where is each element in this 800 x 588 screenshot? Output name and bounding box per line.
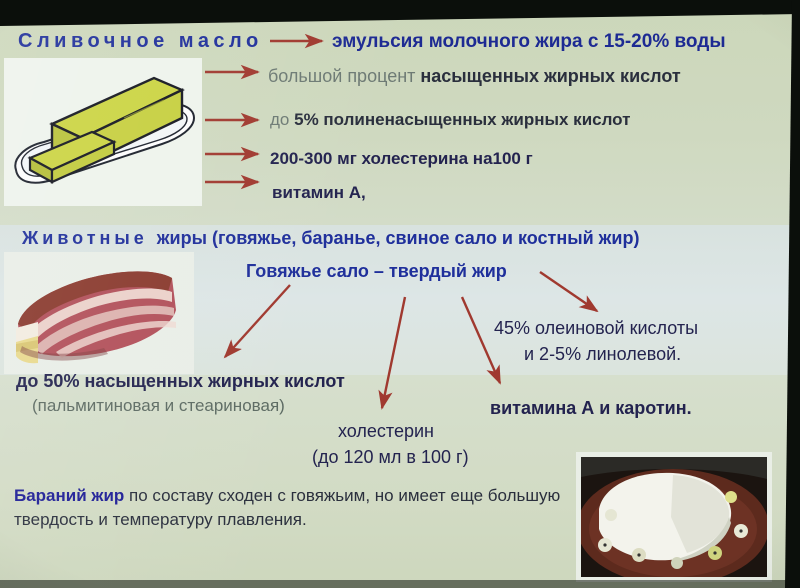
butter-item-poly-bold: 5% полиненасыщенных жирных кислот [294,110,630,129]
projection-edge-bottom [0,580,800,588]
butter-item-emulsion: эмульсия молочного жира с 15-20% воды [332,31,726,53]
branch-saturated-50-sub: (пальмитиновая и стеариновая) [32,396,285,416]
branch-vitamin-a-carotene: витамина А и каротин. [490,398,692,419]
arrow-beef-to-saturated50 [225,285,290,357]
branch-cholesterol-sub: (до 120 мл в 100 г) [312,447,469,468]
arrow-beef-to-cholesterol [382,297,405,408]
butter-item-cholesterol: 200-300 мг холестерина на100 г [270,149,533,169]
butter-item-saturated-plain: большой процент [268,66,420,86]
butter-item-saturated: большой процент насыщенных жирных кислот [268,66,681,87]
butter-item-poly-plain: до [270,110,294,129]
arrow-beef-to-vitamin-a [462,297,500,383]
branch-cholesterol-main: холестерин [338,421,434,442]
animal-fats-title-rest: жиры (говяжье, баранье, свиное сало и ко… [157,228,640,248]
butter-item-vitamin-a: витамин А, [272,183,366,203]
butter-item-polyunsaturated: до 5% полиненасыщенных жирных кислот [270,110,630,130]
mutton-fat-paragraph: Бараний жир по составу сходен с говяжьим… [14,484,574,532]
mutton-fat-lead: Бараний жир [14,486,124,505]
arrow-beef-to-oleic [540,272,597,311]
butter-item-saturated-bold: насыщенных жирных кислот [420,66,680,86]
beef-fat-subtitle: Говяжье сало – твердый жир [246,261,507,282]
branch-oleic-main: 45% олеиновой кислоты [494,318,698,339]
branch-saturated-50-main: до 50% насыщенных жирных кислот [16,371,345,392]
butter-title: Сливочное масло [18,30,263,53]
animal-fats-title-spaced: Животные [22,228,157,248]
animal-fats-title: Животные жиры (говяжье, баранье, свиное … [22,228,640,249]
slide-canvas: Сливочное масло эмульсия молочного жира … [0,0,800,588]
branch-oleic-sub: и 2-5% линолевой. [524,344,681,365]
